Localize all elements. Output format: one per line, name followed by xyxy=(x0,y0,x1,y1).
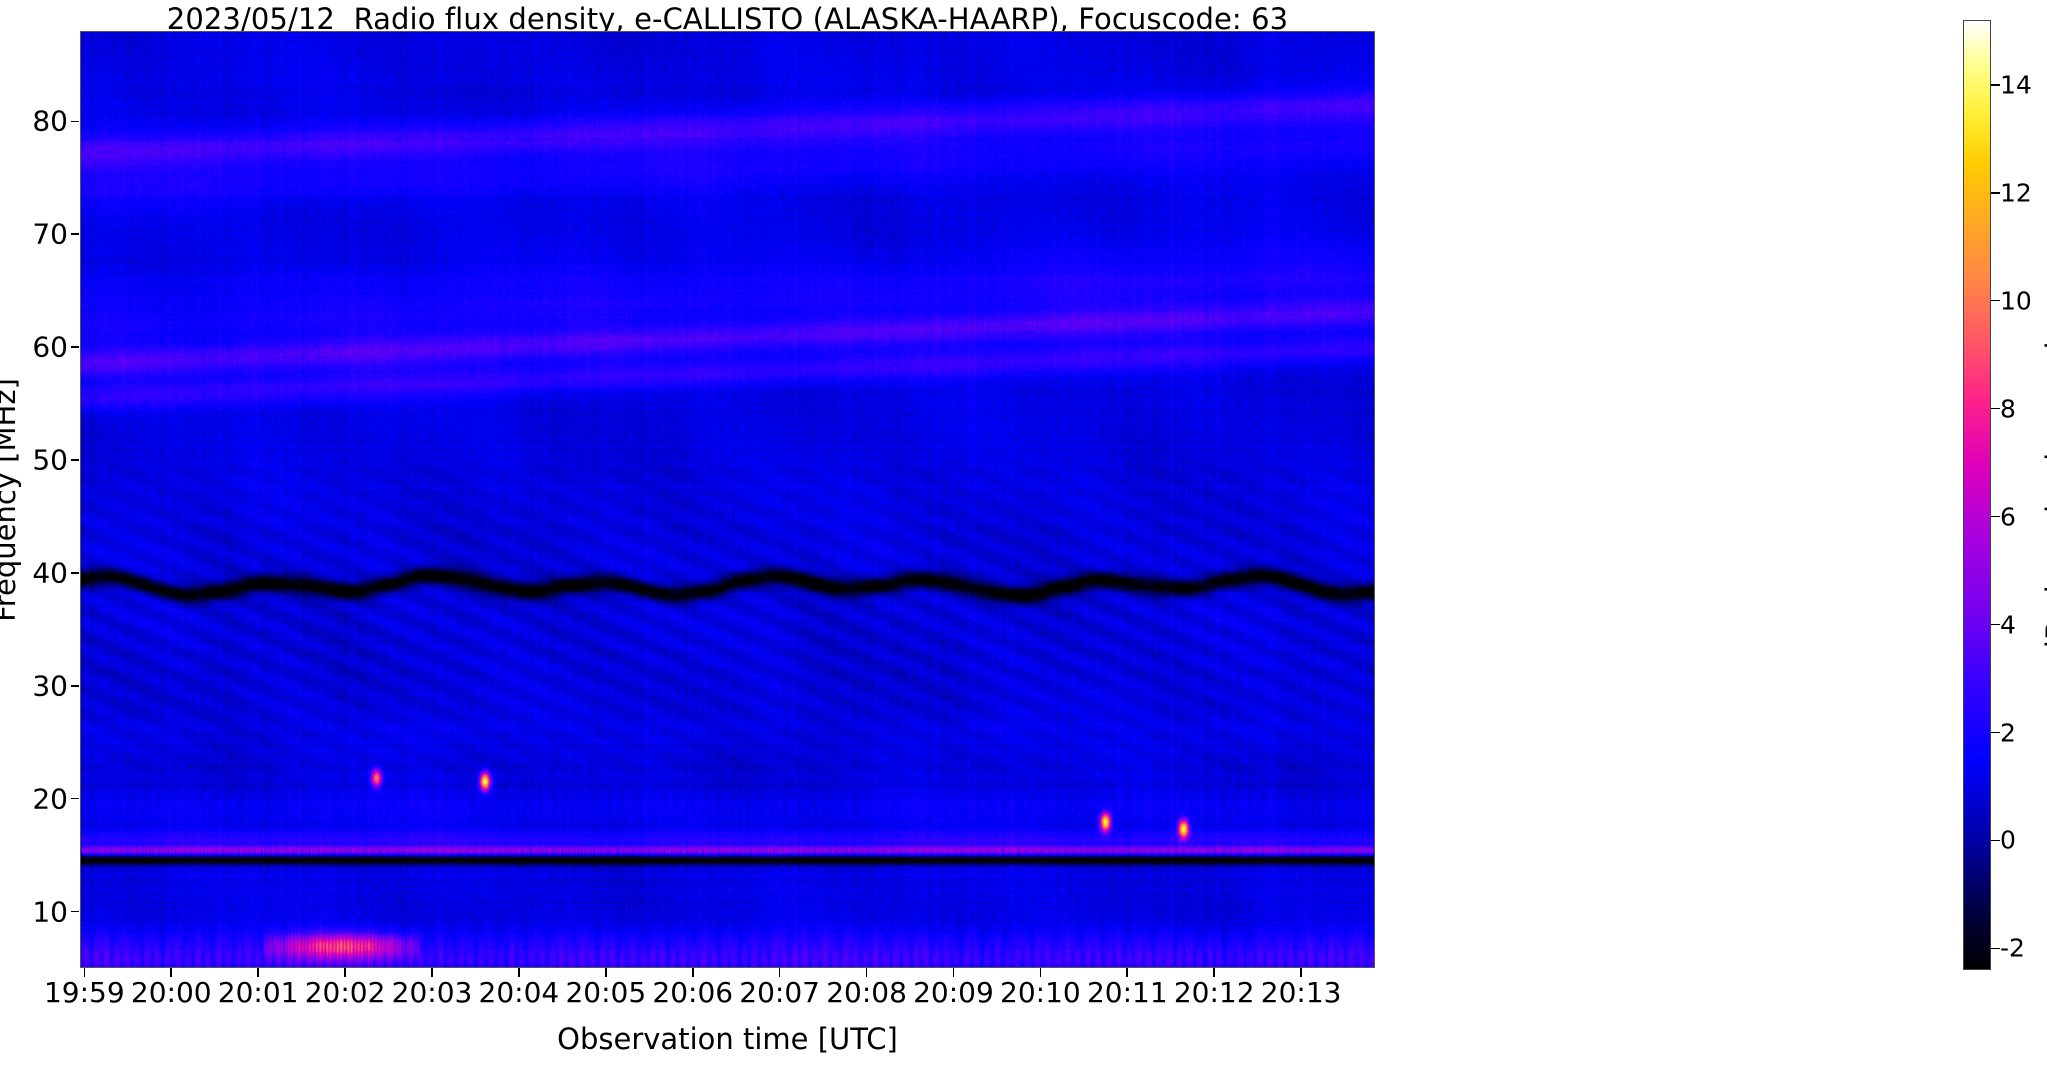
colorbar-tick-mark xyxy=(1991,84,2000,86)
colorbar-gradient xyxy=(1963,20,1991,970)
colorbar-tick-mark xyxy=(1991,516,2000,518)
x-tick-label: 20:06 xyxy=(652,976,733,1009)
x-tick-mark xyxy=(431,968,433,977)
x-tick-label: 20:10 xyxy=(1000,976,1081,1009)
spectrogram-plot-area xyxy=(80,31,1375,968)
x-tick-mark xyxy=(953,968,955,977)
y-tick-label: 30 xyxy=(32,669,68,702)
x-tick-label: 20:03 xyxy=(392,976,473,1009)
colorbar-tick-label: -2 xyxy=(2000,934,2025,963)
colorbar-tick-label: 4 xyxy=(2000,610,2016,639)
x-tick-label: 20:12 xyxy=(1174,976,1255,1009)
x-tick-mark xyxy=(866,968,868,977)
y-tick-mark xyxy=(71,911,79,913)
spectrogram-image xyxy=(81,32,1374,967)
x-axis-label: Observation time [UTC] xyxy=(80,1022,1375,1056)
x-tick-mark xyxy=(170,968,172,977)
x-tick-label: 20:00 xyxy=(131,976,212,1009)
x-tick-label: 20:07 xyxy=(739,976,820,1009)
y-axis-label: Frequency [MHz] xyxy=(0,378,22,622)
y-tick-label: 50 xyxy=(32,443,68,476)
y-tick-label: 20 xyxy=(32,782,68,815)
colorbar-tick-label: 2 xyxy=(2000,718,2016,747)
x-tick-mark xyxy=(518,968,520,977)
y-tick-mark xyxy=(71,572,79,574)
y-tick-mark xyxy=(71,798,79,800)
x-tick-label: 20:13 xyxy=(1261,976,1342,1009)
y-tick-mark xyxy=(71,346,79,348)
x-tick-label: 20:11 xyxy=(1087,976,1168,1009)
colorbar-tick-mark xyxy=(1991,192,2000,194)
x-tick-mark xyxy=(1126,968,1128,977)
x-tick-mark xyxy=(257,968,259,977)
x-tick-label: 20:04 xyxy=(479,976,560,1009)
x-tick-label: 20:08 xyxy=(826,976,907,1009)
colorbar-tick-label: 10 xyxy=(2000,286,2032,315)
colorbar-tick-mark xyxy=(1991,300,2000,302)
x-tick-label: 20:02 xyxy=(305,976,386,1009)
y-tick-label: 70 xyxy=(32,218,68,251)
colorbar-label: dB above background xyxy=(2040,341,2047,658)
x-tick-mark xyxy=(1300,968,1302,977)
colorbar-tick-label: 8 xyxy=(2000,394,2016,423)
y-tick-mark xyxy=(71,233,79,235)
x-tick-mark xyxy=(1213,968,1215,977)
colorbar-tick-mark xyxy=(1991,840,2000,842)
colorbar-tick-mark xyxy=(1991,408,2000,410)
x-tick-label: 20:09 xyxy=(913,976,994,1009)
colorbar-tick-label: 6 xyxy=(2000,502,2016,531)
x-tick-label: 20:05 xyxy=(565,976,646,1009)
colorbar-tick-mark xyxy=(1991,624,2000,626)
x-tick-mark xyxy=(779,968,781,977)
x-tick-label: 20:01 xyxy=(218,976,299,1009)
y-tick-mark xyxy=(71,685,79,687)
x-tick-mark xyxy=(605,968,607,977)
page-title: 2023/05/12 Radio flux density, e-CALLIST… xyxy=(0,4,1455,34)
y-tick-label: 40 xyxy=(32,556,68,589)
colorbar-tick-mark xyxy=(1991,732,2000,734)
y-tick-label: 80 xyxy=(32,105,68,138)
colorbar-tick-label: 0 xyxy=(2000,826,2016,855)
y-tick-mark xyxy=(71,459,79,461)
colorbar-tick-mark xyxy=(1991,948,2000,950)
colorbar-tick-label: 12 xyxy=(2000,178,2032,207)
x-tick-label: 19:59 xyxy=(44,976,125,1009)
x-tick-mark xyxy=(84,968,86,977)
x-tick-mark xyxy=(692,968,694,977)
y-tick-mark xyxy=(71,121,79,123)
y-tick-label: 60 xyxy=(32,331,68,364)
x-tick-mark xyxy=(1040,968,1042,977)
y-tick-label: 10 xyxy=(32,895,68,928)
colorbar-tick-label: 14 xyxy=(2000,70,2032,99)
x-tick-mark xyxy=(344,968,346,977)
